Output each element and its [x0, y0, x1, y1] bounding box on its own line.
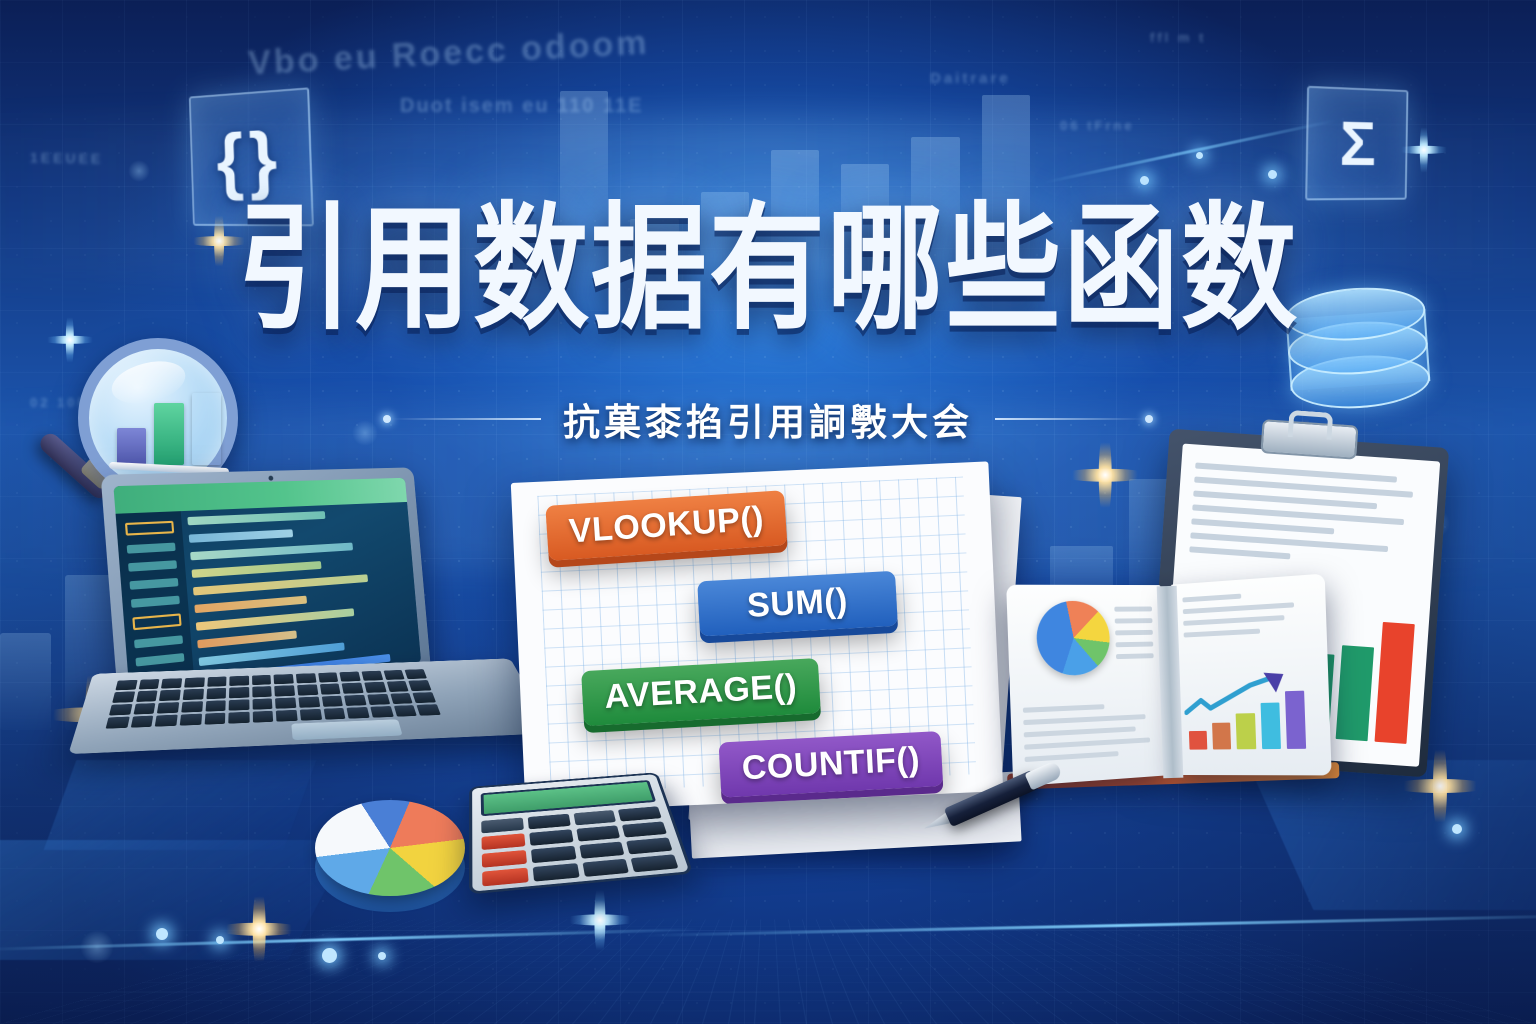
network-node	[378, 952, 386, 960]
network-node	[1140, 176, 1149, 185]
webcam-icon	[268, 476, 273, 481]
laptop-base	[68, 658, 553, 754]
trend-arrow-icon	[1183, 669, 1301, 724]
calculator-keypad[interactable]	[481, 806, 678, 886]
background-text-line4: 06 tFrne	[1060, 118, 1135, 133]
bokeh-dot	[80, 930, 114, 964]
grid-note-sheet: VLOOKUP() SUM() AVERAGE() COUNTIF()	[511, 461, 1003, 812]
editor-toolbar	[113, 478, 407, 514]
book-page-right	[1171, 574, 1332, 776]
open-book-icon	[1007, 576, 1334, 787]
background-text-line3: Daitrare	[930, 70, 1011, 87]
calculator-icon[interactable]	[469, 772, 693, 894]
subtitle-rule-left	[391, 418, 541, 420]
network-node	[322, 948, 337, 963]
pie-chart-icon	[315, 800, 465, 912]
network-node	[1196, 152, 1203, 159]
laptop-icon	[96, 470, 526, 800]
book-pie-chart	[1035, 601, 1110, 677]
poster-canvas: Vbo eu Roecc odoom Duot isem eu 110 11E …	[0, 0, 1536, 1024]
network-node	[156, 928, 168, 940]
sigma-icon: Σ	[1305, 86, 1408, 201]
editor-code-lines	[187, 508, 414, 681]
function-chip-countif[interactable]: COUNTIF()	[719, 731, 944, 798]
background-text-line2: Duot isem eu 110 11E	[400, 95, 643, 118]
subtitle-rule-right	[995, 418, 1145, 420]
clipboard-clamp-icon	[1260, 419, 1358, 460]
bokeh-dot	[128, 160, 150, 182]
background-text-line5: 1EEUEE	[30, 149, 104, 166]
page-subtitle: 抗菓桼掐引用詷斅大会	[563, 392, 973, 446]
network-node	[1452, 824, 1462, 834]
network-node	[1268, 170, 1277, 179]
trackpad[interactable]	[291, 719, 402, 740]
function-chip-sum[interactable]: SUM()	[697, 571, 898, 637]
page-title: 引用数据有哪些函数	[0, 202, 1536, 339]
book-page-left	[1006, 585, 1167, 787]
network-node	[216, 936, 224, 944]
background-text-line7: ffl m t	[1150, 30, 1206, 45]
